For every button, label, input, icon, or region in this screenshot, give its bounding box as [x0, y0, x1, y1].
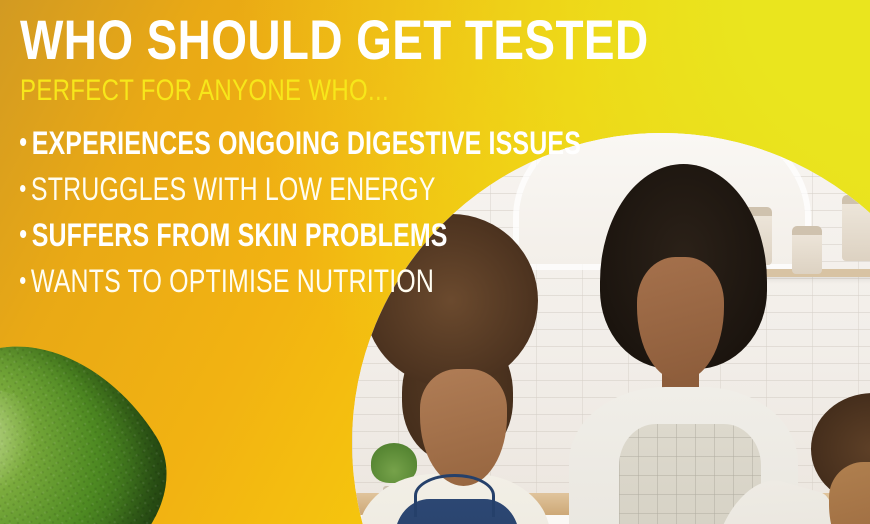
bullet-dot-icon	[20, 185, 25, 192]
list-item: STRUGGLES WITH LOW ENERGY	[20, 173, 504, 205]
jar-lid	[792, 226, 822, 235]
subheading: PERFECT FOR ANYONE WHO...	[20, 76, 516, 106]
bullet-dot-icon	[20, 230, 26, 238]
promo-banner: WHO SHOULD GET TESTED PERFECT FOR ANYONE…	[0, 0, 870, 524]
girl-apron-strap	[414, 474, 495, 517]
list-item: WANTS TO OPTIMISE NUTRITION	[20, 265, 504, 297]
storage-jar	[792, 226, 822, 274]
storage-jar	[842, 195, 870, 261]
jar-lid	[842, 195, 870, 204]
benefits-list: EXPERIENCES ONGOING DIGESTIVE ISSUES STR…	[20, 127, 640, 297]
list-item-label: WANTS TO OPTIMISE NUTRITION	[31, 263, 434, 299]
list-item: SUFFERS FROM SKIN PROBLEMS	[20, 219, 504, 251]
bullet-dot-icon	[20, 138, 26, 146]
copy-block: WHO SHOULD GET TESTED PERFECT FOR ANYONE…	[20, 14, 640, 311]
avocado-icon	[0, 297, 201, 524]
page-title: WHO SHOULD GET TESTED	[20, 14, 528, 67]
list-item-label: SUFFERS FROM SKIN PROBLEMS	[32, 217, 448, 253]
bullet-dot-icon	[20, 277, 25, 284]
list-item: EXPERIENCES ONGOING DIGESTIVE ISSUES	[20, 127, 504, 159]
list-item-label: STRUGGLES WITH LOW ENERGY	[31, 171, 436, 207]
list-item-label: EXPERIENCES ONGOING DIGESTIVE ISSUES	[32, 125, 581, 161]
